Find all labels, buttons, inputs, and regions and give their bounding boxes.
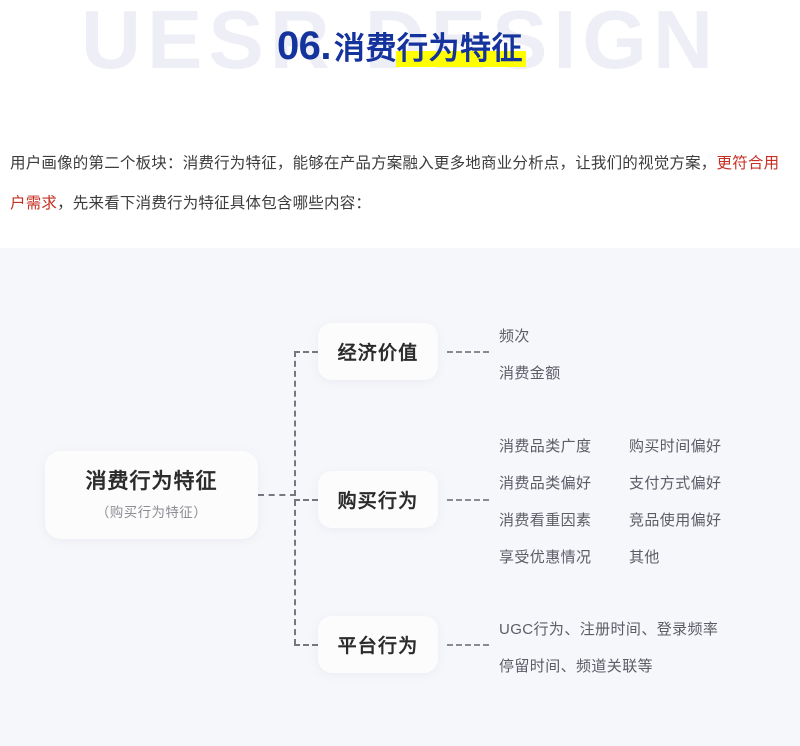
node-branch-purchase-behavior[interactable]: 购买行为 — [318, 471, 438, 528]
connector-root-trunk — [258, 494, 296, 496]
section-number: 06. — [277, 24, 331, 68]
leaf-group-economic-value: 频次 消费金额 — [499, 318, 561, 392]
leaf-item: 消费金额 — [499, 355, 561, 392]
leaf-item: 购买时间偏好 — [629, 428, 721, 465]
node-branch-economic-value[interactable]: 经济价值 — [318, 323, 438, 380]
node-branch-platform-behavior[interactable]: 平台行为 — [318, 616, 438, 673]
leaf-grid: 消费品类广度 购买时间偏好 消费品类偏好 支付方式偏好 消费看重因素 竞品使用偏… — [499, 428, 721, 576]
leaf-item: 其他 — [629, 539, 721, 576]
node-root-title: 消费行为特征 — [86, 469, 218, 494]
section-title: 消费行为特征 — [334, 23, 523, 68]
leaf-group-purchase-behavior: 消费品类广度 购买时间偏好 消费品类偏好 支付方式偏好 消费看重因素 竞品使用偏… — [499, 428, 721, 576]
leaf-item: 享受优惠情况 — [499, 539, 629, 576]
leaf-item: 频次 — [499, 318, 561, 355]
section-title-text: 消费行为特征 — [334, 31, 523, 66]
connector-out-platform-behavior — [447, 644, 489, 646]
connector-out-purchase-behavior — [447, 499, 489, 501]
node-branch-label: 经济价值 — [338, 338, 419, 365]
intro-part-1: 用户画像的第二个板块：消费行为特征，能够在产品方案融入更多地商业分析点，让我们的… — [10, 155, 717, 172]
page-title: 06.消费行为特征 — [0, 23, 800, 69]
intro-paragraph: 用户画像的第二个板块：消费行为特征，能够在产品方案融入更多地商业分析点，让我们的… — [10, 144, 792, 224]
connector-out-economic-value — [447, 351, 489, 353]
connector-stub-purchase-behavior — [294, 499, 318, 501]
page-header: UESR DESIGN 06.消费行为特征 — [0, 0, 800, 110]
leaf-item: UGC行为、注册时间、登录频率 — [499, 611, 718, 648]
connector-stub-economic-value — [294, 351, 318, 353]
intro-part-2: ，先来看下消费行为特征具体包含哪些内容： — [57, 195, 371, 212]
leaf-item: 消费看重因素 — [499, 502, 629, 539]
node-root[interactable]: 消费行为特征 （购买行为特征） — [45, 451, 258, 539]
node-branch-label: 平台行为 — [338, 631, 419, 658]
leaf-item: 消费品类偏好 — [499, 465, 629, 502]
leaf-group-platform-behavior: UGC行为、注册时间、登录频率 停留时间、频道关联等 — [499, 611, 718, 685]
connector-vertical-spine — [294, 351, 296, 645]
node-branch-label: 购买行为 — [338, 486, 419, 513]
leaf-item: 停留时间、频道关联等 — [499, 648, 718, 685]
leaf-item: 支付方式偏好 — [629, 465, 721, 502]
node-root-subtitle: （购买行为特征） — [96, 501, 207, 521]
connector-stub-platform-behavior — [294, 644, 318, 646]
leaf-item: 消费品类广度 — [499, 428, 629, 465]
diagram-panel: 消费行为特征 （购买行为特征） 经济价值 购买行为 平台行为 频次 消费金额 消… — [0, 248, 800, 746]
leaf-item: 竞品使用偏好 — [629, 502, 721, 539]
